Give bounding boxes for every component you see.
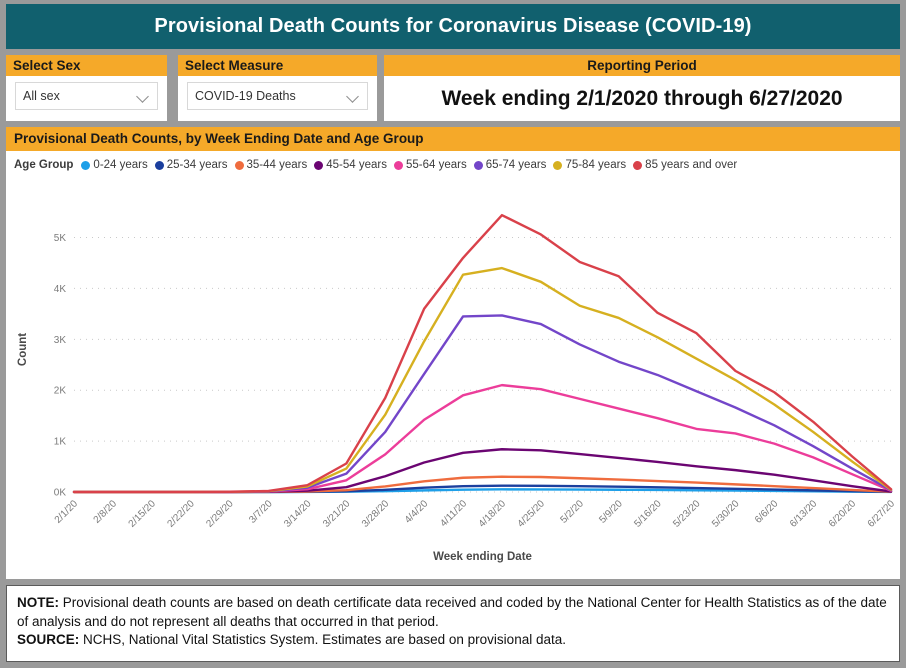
x-axis-tick-label: 6/27/20 (866, 498, 898, 530)
chart-legend: Age Group 0-24 years25-34 years35-44 yea… (6, 151, 900, 175)
x-axis-tick-label: 5/30/20 (710, 498, 742, 530)
chevron-down-icon (347, 90, 360, 103)
legend-swatch-icon (235, 161, 244, 170)
legend-label: 65-74 years (486, 159, 547, 171)
x-axis-tick-label: 6/6/20 (753, 498, 781, 526)
legend-swatch-icon (474, 161, 483, 170)
chart-plot-area: 0K1K2K3K4K5KCount2/1/202/8/202/15/202/22… (6, 175, 900, 571)
legend-item[interactable]: 25-34 years (155, 159, 228, 171)
select-sex-dropdown[interactable]: All sex (15, 82, 158, 110)
legend-title: Age Group (14, 159, 73, 171)
legend-item[interactable]: 65-74 years (474, 159, 547, 171)
select-sex-card: Select Sex All sex (6, 55, 167, 121)
footnote-source-text: NCHS, National Vital Statistics System. … (79, 632, 566, 647)
legend-swatch-icon (633, 161, 642, 170)
chart-title: Provisional Death Counts, by Week Ending… (6, 127, 900, 151)
x-axis-tick-label: 3/28/20 (360, 498, 392, 530)
select-sex-value: All sex (23, 89, 60, 103)
legend-item[interactable]: 75-84 years (553, 159, 626, 171)
footnote-note: NOTE: Provisional death counts are based… (17, 594, 889, 631)
page-title-bar: Provisional Death Counts for Coronavirus… (6, 4, 900, 49)
select-measure-value: COVID-19 Deaths (195, 89, 296, 103)
legend-label: 0-24 years (93, 159, 147, 171)
x-axis-tick-label: 4/4/20 (403, 498, 431, 526)
y-axis-title: Count (17, 333, 29, 366)
series-line[interactable] (74, 315, 891, 492)
chevron-down-icon (137, 90, 150, 103)
select-measure-wrap: COVID-19 Deaths (178, 76, 377, 110)
reporting-period-value: Week ending 2/1/2020 through 6/27/2020 (384, 76, 900, 121)
x-axis-tick-label: 4/25/20 (516, 498, 548, 530)
x-axis-tick-label: 6/13/20 (788, 498, 820, 530)
filter-bar: Select Sex All sex Select Measure COVID-… (6, 55, 900, 121)
line-chart: 0K1K2K3K4K5KCount2/1/202/8/202/15/202/22… (6, 175, 900, 571)
x-axis-tick-label: 2/8/20 (92, 498, 120, 526)
x-axis-tick-label: 2/1/20 (53, 498, 81, 526)
x-axis-tick-label: 3/14/20 (282, 498, 314, 530)
x-axis-tick-label: 5/9/20 (597, 498, 625, 526)
legend-label: 85 years and over (645, 159, 737, 171)
footnote-source-label: SOURCE: (17, 632, 79, 647)
x-axis-title: Week ending Date (433, 551, 532, 563)
select-measure-dropdown[interactable]: COVID-19 Deaths (187, 82, 368, 110)
y-axis-tick-label: 0K (54, 488, 67, 499)
x-axis-tick-label: 5/2/20 (558, 498, 586, 526)
legend-label: 75-84 years (565, 159, 626, 171)
footnote-note-text: Provisional death counts are based on de… (17, 595, 887, 629)
x-axis-tick-label: 5/16/20 (632, 498, 664, 530)
legend-item[interactable]: 35-44 years (235, 159, 308, 171)
legend-swatch-icon (314, 161, 323, 170)
x-axis-tick-label: 3/21/20 (321, 498, 353, 530)
legend-item[interactable]: 45-54 years (314, 159, 387, 171)
legend-label: 25-34 years (167, 159, 228, 171)
legend-item[interactable]: 55-64 years (394, 159, 467, 171)
legend-item[interactable]: 0-24 years (81, 159, 147, 171)
legend-swatch-icon (553, 161, 562, 170)
x-axis-tick-label: 2/15/20 (127, 498, 159, 530)
y-axis-tick-label: 5K (54, 233, 67, 244)
reporting-period-label: Reporting Period (384, 55, 900, 76)
x-axis-tick-label: 3/7/20 (247, 498, 275, 526)
legend-swatch-icon (155, 161, 164, 170)
chart-panel: Provisional Death Counts, by Week Ending… (6, 127, 900, 579)
x-axis-tick-label: 5/23/20 (671, 498, 703, 530)
dashboard-root: Provisional Death Counts for Coronavirus… (0, 0, 906, 668)
footnote-source: SOURCE: NCHS, National Vital Statistics … (17, 631, 889, 650)
legend-swatch-icon (394, 161, 403, 170)
reporting-period-card: Reporting Period Week ending 2/1/2020 th… (384, 55, 900, 121)
select-measure-card: Select Measure COVID-19 Deaths (178, 55, 377, 121)
legend-item[interactable]: 85 years and over (633, 159, 737, 171)
legend-label: 55-64 years (406, 159, 467, 171)
x-axis-tick-label: 4/18/20 (477, 498, 509, 530)
series-line[interactable] (74, 268, 891, 492)
select-sex-label: Select Sex (6, 55, 167, 76)
x-axis-tick-label: 4/11/20 (438, 498, 469, 529)
page-title: Provisional Death Counts for Coronavirus… (154, 15, 751, 38)
x-axis-tick-label: 2/29/20 (204, 498, 236, 530)
legend-label: 35-44 years (247, 159, 308, 171)
footnote-box: NOTE: Provisional death counts are based… (6, 585, 900, 662)
select-measure-label: Select Measure (178, 55, 377, 76)
select-sex-wrap: All sex (6, 76, 167, 110)
y-axis-tick-label: 2K (54, 386, 67, 397)
y-axis-tick-label: 3K (54, 335, 67, 346)
x-axis-tick-label: 6/20/20 (827, 498, 859, 530)
legend-swatch-icon (81, 161, 90, 170)
footnote-note-label: NOTE: (17, 595, 59, 610)
y-axis-tick-label: 4K (54, 284, 67, 295)
x-axis-tick-label: 2/22/20 (165, 498, 197, 530)
y-axis-tick-label: 1K (54, 437, 67, 448)
legend-label: 45-54 years (326, 159, 387, 171)
